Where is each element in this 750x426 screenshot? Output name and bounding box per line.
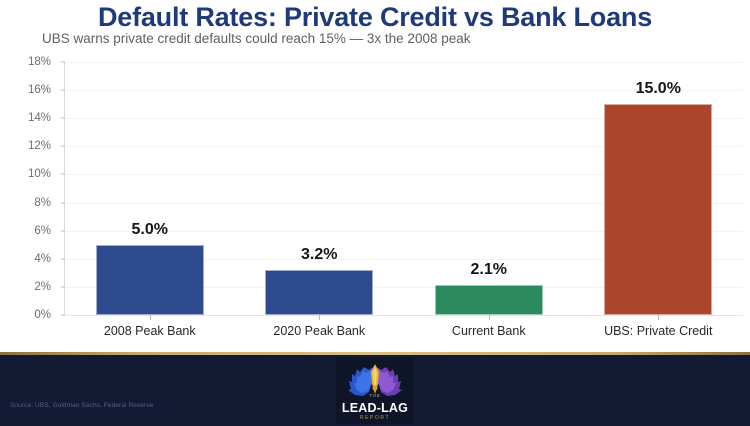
gridline	[65, 315, 743, 316]
bar[interactable]	[96, 245, 204, 315]
y-axis-tick-mark	[61, 230, 65, 231]
bar-value-label: 2.1%	[435, 261, 543, 279]
y-axis-tick-label: 6%	[0, 225, 51, 237]
logo-report-text: REPORT	[336, 415, 414, 421]
bar[interactable]	[435, 285, 543, 315]
y-axis-tick-label: 14%	[0, 112, 51, 124]
bar[interactable]	[265, 270, 373, 315]
bar-value-label: 5.0%	[96, 221, 204, 239]
x-axis-tick-mark	[150, 315, 151, 320]
chart-screenshot: Default Rates: Private Credit vs Bank Lo…	[0, 0, 750, 426]
footer-bar: Source: UBS, Goldman Sachs, Federal Rese…	[0, 355, 750, 426]
y-axis-tick-label: 8%	[0, 197, 51, 209]
bar-group: 15.0%UBS: Private Credit	[604, 62, 712, 315]
y-axis-tick-label: 16%	[0, 84, 51, 96]
y-axis-tick-mark	[61, 62, 65, 63]
y-axis-tick-label: 10%	[0, 168, 51, 180]
bar-value-label: 15.0%	[604, 80, 712, 98]
y-axis-tick-label: 4%	[0, 253, 51, 265]
logo-the-text: THE	[336, 393, 414, 398]
y-axis-tick-mark	[61, 202, 65, 203]
y-axis-tick-label: 18%	[0, 56, 51, 68]
y-axis-tick-mark	[61, 286, 65, 287]
y-axis-tick-mark	[61, 174, 65, 175]
chart-subtitle: UBS warns private credit defaults could …	[42, 31, 471, 46]
y-axis-tick-mark	[61, 90, 65, 91]
plot-area: 0%2%4%6%8%10%12%14%16%18% 5.0%2008 Peak …	[64, 62, 743, 315]
bar-group: 2.1%Current Bank	[435, 62, 543, 315]
bar-group: 3.2%2020 Peak Bank	[265, 62, 373, 315]
y-axis-tick-mark	[61, 315, 65, 316]
y-axis-tick-label: 2%	[0, 281, 51, 293]
y-axis-tick-label: 12%	[0, 140, 51, 152]
x-axis-tick-label: UBS: Private Credit	[574, 324, 742, 338]
x-axis-tick-label: 2020 Peak Bank	[235, 324, 403, 338]
x-axis-tick-mark	[658, 315, 659, 320]
x-axis-tick-mark	[489, 315, 490, 320]
x-axis-tick-label: Current Bank	[405, 324, 573, 338]
logo-name-text: LEAD-LAG	[336, 401, 414, 415]
x-axis-tick-mark	[319, 315, 320, 320]
lead-lag-logo: THE LEAD-LAG REPORT	[336, 358, 414, 424]
chart-title: Default Rates: Private Credit vs Bank Lo…	[0, 2, 750, 33]
y-axis-tick-mark	[61, 118, 65, 119]
bar[interactable]	[604, 104, 712, 315]
bar-group: 5.0%2008 Peak Bank	[96, 62, 204, 315]
y-axis-tick-mark	[61, 146, 65, 147]
source-note: Source: UBS, Goldman Sachs, Federal Rese…	[10, 402, 153, 409]
y-axis-tick-label: 0%	[0, 309, 51, 321]
y-axis-tick-mark	[61, 258, 65, 259]
x-axis-tick-label: 2008 Peak Bank	[66, 324, 234, 338]
bar-value-label: 3.2%	[265, 246, 373, 264]
